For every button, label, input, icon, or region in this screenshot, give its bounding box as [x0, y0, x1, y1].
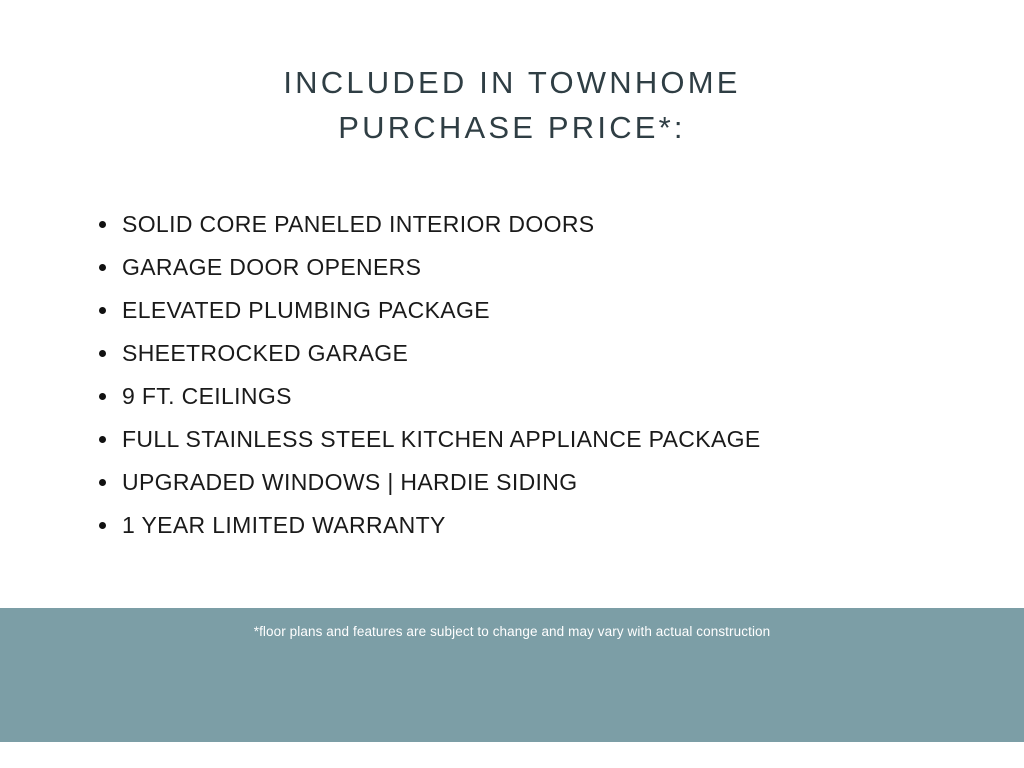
feature-list: SOLID CORE PANELED INTERIOR DOORS GARAGE… — [96, 208, 996, 552]
list-item-label: FULL STAINLESS STEEL KITCHEN APPLIANCE P… — [122, 423, 761, 455]
page-title-line-2: PURCHASE PRICE*: — [0, 105, 1024, 150]
list-item: SOLID CORE PANELED INTERIOR DOORS — [96, 208, 996, 251]
list-item: GARAGE DOOR OPENERS — [96, 251, 996, 294]
list-item-label: ELEVATED PLUMBING PACKAGE — [122, 294, 490, 326]
page-title-line-1: INCLUDED IN TOWNHOME — [0, 60, 1024, 105]
list-item-label: UPGRADED WINDOWS | HARDIE SIDING — [122, 466, 577, 498]
list-item: 1 YEAR LIMITED WARRANTY — [96, 509, 996, 552]
bottom-margin-strip — [0, 742, 1024, 768]
bullet-dot-icon — [99, 350, 106, 357]
bullet-dot-icon — [99, 393, 106, 400]
footer-disclaimer: *floor plans and features are subject to… — [0, 624, 1024, 639]
bullet-dot-icon — [99, 479, 106, 486]
list-item-label: 1 YEAR LIMITED WARRANTY — [122, 509, 446, 541]
bullet-dot-icon — [99, 221, 106, 228]
slide-canvas: INCLUDED IN TOWNHOME PURCHASE PRICE*: SO… — [0, 0, 1024, 768]
list-item: FULL STAINLESS STEEL KITCHEN APPLIANCE P… — [96, 423, 996, 466]
page-title: INCLUDED IN TOWNHOME PURCHASE PRICE*: — [0, 60, 1024, 150]
bullet-dot-icon — [99, 264, 106, 271]
list-item: ELEVATED PLUMBING PACKAGE — [96, 294, 996, 337]
list-item: SHEETROCKED GARAGE — [96, 337, 996, 380]
list-item: UPGRADED WINDOWS | HARDIE SIDING — [96, 466, 996, 509]
list-item-label: SHEETROCKED GARAGE — [122, 337, 408, 369]
list-item: 9 FT. CEILINGS — [96, 380, 996, 423]
bullet-dot-icon — [99, 307, 106, 314]
bullet-dot-icon — [99, 436, 106, 443]
footer-band: *floor plans and features are subject to… — [0, 608, 1024, 742]
list-item-label: GARAGE DOOR OPENERS — [122, 251, 421, 283]
list-item-label: SOLID CORE PANELED INTERIOR DOORS — [122, 208, 594, 240]
bullet-dot-icon — [99, 522, 106, 529]
list-item-label: 9 FT. CEILINGS — [122, 380, 292, 412]
